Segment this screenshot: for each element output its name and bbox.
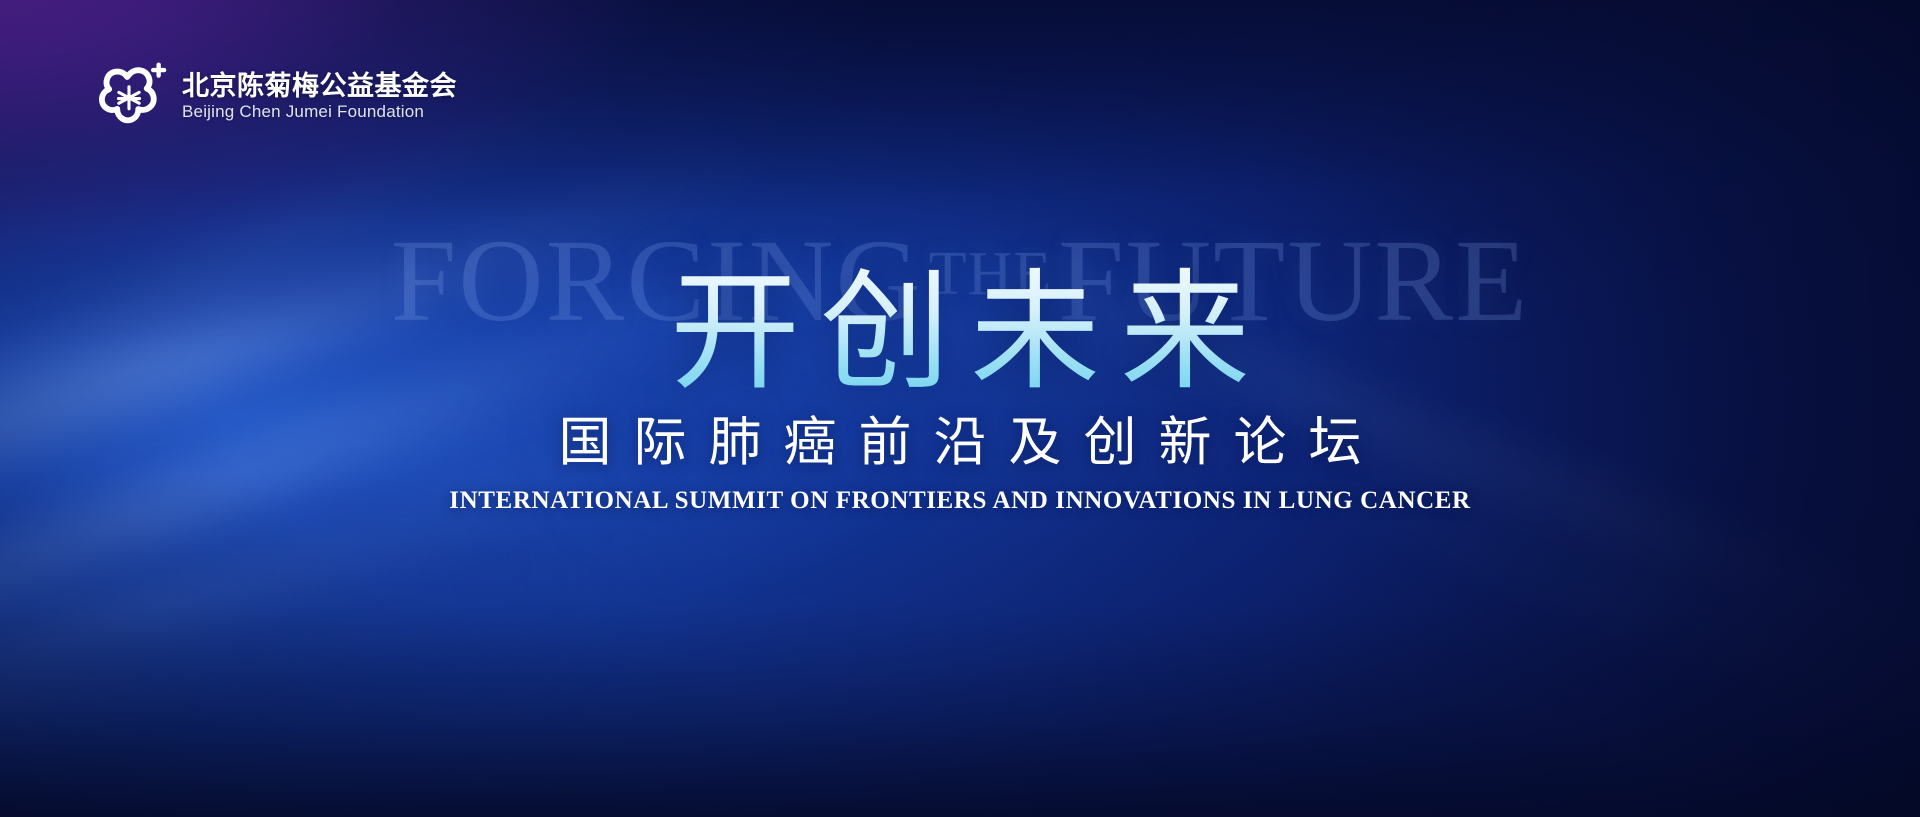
foundation-logo[interactable]: 北京陈菊梅公益基金会 Beijing Chen Jumei Foundation — [90, 58, 457, 136]
event-subtitle-cn: 国际肺癌前沿及创新论坛 — [0, 412, 1920, 475]
foundation-name-en: Beijing Chen Jumei Foundation — [182, 103, 457, 122]
plus-sparkle-icon — [153, 65, 164, 76]
foundation-name-cn: 北京陈菊梅公益基金会 — [182, 72, 457, 100]
hero-content: FORCINGTHEFUTURE 开创未来 国际肺癌前沿及创新论坛 INTERN… — [0, 212, 1920, 516]
event-title-cn: 开创未来 — [0, 212, 1920, 404]
light-streak — [0, 563, 569, 817]
foundation-logo-text: 北京陈菊梅公益基金会 Beijing Chen Jumei Foundation — [182, 72, 457, 122]
event-subtitle-en: INTERNATIONAL SUMMIT ON FRONTIERS AND IN… — [0, 486, 1920, 516]
light-streak — [1203, 599, 1920, 817]
event-banner: 北京陈菊梅公益基金会 Beijing Chen Jumei Foundation… — [0, 0, 1920, 817]
plum-blossom-flower-icon — [90, 58, 168, 136]
